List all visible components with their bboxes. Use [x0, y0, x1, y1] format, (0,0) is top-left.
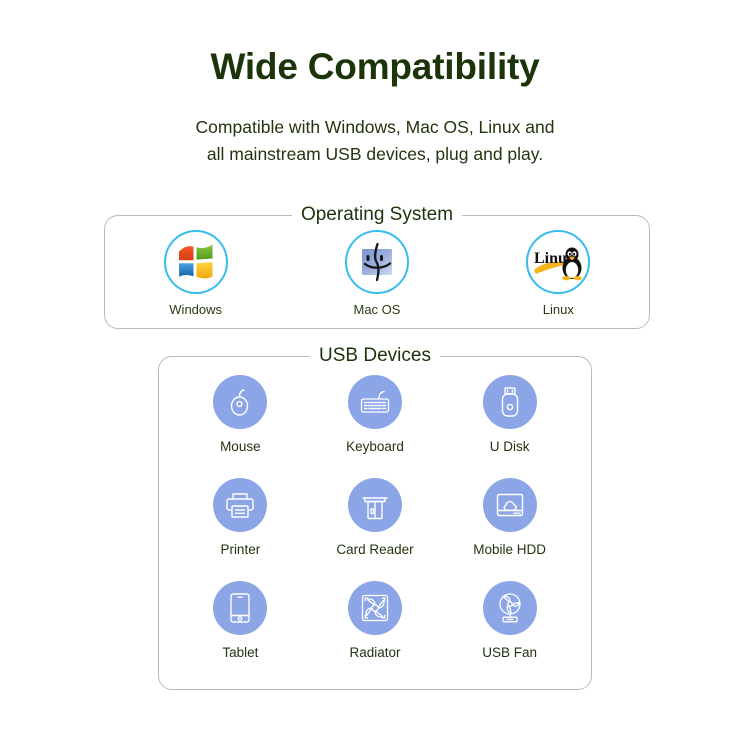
- usb-devices-legend: USB Devices: [310, 345, 440, 367]
- usb-flash-drive-icon: [497, 386, 523, 418]
- usb-fan-icon: [495, 592, 525, 624]
- subtitle-line-1: Compatible with Windows, Mac OS, Linux a…: [0, 114, 750, 141]
- os-icon-ring: [345, 230, 409, 294]
- usb-item-label: USB Fan: [442, 645, 577, 660]
- keyboard-icon: [359, 387, 391, 417]
- usb-item-label: Keyboard: [308, 439, 443, 454]
- usb-devices-panel: USB Devices Mouse: [158, 356, 592, 690]
- operating-system-list: Windows: [105, 216, 649, 328]
- usb-icon-circle: [348, 478, 402, 532]
- usb-icon-circle: [213, 478, 267, 532]
- usb-item-mouse[interactable]: Mouse: [173, 375, 308, 478]
- usb-item-printer[interactable]: Printer: [173, 478, 308, 581]
- usb-item-label: Mobile HDD: [442, 542, 577, 557]
- mouse-icon: [225, 387, 255, 417]
- usb-item-label: U Disk: [442, 439, 577, 454]
- external-hard-drive-icon: [495, 490, 525, 520]
- usb-item-mobile-hdd[interactable]: Mobile HDD: [442, 478, 577, 581]
- usb-icon-circle: [483, 478, 537, 532]
- usb-devices-grid: Mouse Keyboard: [159, 357, 591, 689]
- usb-item-label: Tablet: [173, 645, 308, 660]
- usb-item-label: Printer: [173, 542, 308, 557]
- os-item-macos[interactable]: Mac OS: [307, 230, 447, 317]
- page-subtitle: Compatible with Windows, Mac OS, Linux a…: [0, 88, 750, 168]
- card-reader-icon: [360, 490, 390, 521]
- linux-tux-logo-icon: Linux: [531, 242, 585, 282]
- printer-icon: [225, 490, 255, 520]
- usb-icon-circle: [213, 375, 267, 429]
- usb-icon-circle: [483, 581, 537, 635]
- usb-item-label: Mouse: [173, 439, 308, 454]
- os-icon-ring: [164, 230, 228, 294]
- usb-item-label: Radiator: [308, 645, 443, 660]
- tablet-icon: [227, 592, 253, 624]
- usb-icon-circle: [348, 375, 402, 429]
- subtitle-line-2: all mainstream USB devices, plug and pla…: [0, 141, 750, 168]
- usb-item-tablet[interactable]: Tablet: [173, 581, 308, 684]
- operating-system-panel: Operating System: [104, 215, 650, 329]
- usb-item-usb-fan[interactable]: USB Fan: [442, 581, 577, 684]
- os-icon-ring: Linux: [526, 230, 590, 294]
- usb-item-card-reader[interactable]: Card Reader: [308, 478, 443, 581]
- usb-item-radiator[interactable]: Radiator: [308, 581, 443, 684]
- os-item-label: Linux: [488, 302, 628, 317]
- os-item-label: Mac OS: [307, 302, 447, 317]
- usb-item-keyboard[interactable]: Keyboard: [308, 375, 443, 478]
- operating-system-legend: Operating System: [292, 204, 462, 226]
- usb-item-u-disk[interactable]: U Disk: [442, 375, 577, 478]
- os-item-windows[interactable]: Windows: [126, 230, 266, 317]
- usb-item-label: Card Reader: [308, 542, 443, 557]
- windows-logo-icon: [176, 243, 216, 281]
- os-item-label: Windows: [126, 302, 266, 317]
- usb-icon-circle: [483, 375, 537, 429]
- usb-icon-circle: [213, 581, 267, 635]
- usb-icon-circle: [348, 581, 402, 635]
- radiator-fan-icon: [360, 593, 390, 623]
- os-item-linux[interactable]: Linux: [488, 230, 628, 317]
- page-title: Wide Compatibility: [0, 0, 750, 88]
- mac-finder-face-icon: [357, 242, 397, 282]
